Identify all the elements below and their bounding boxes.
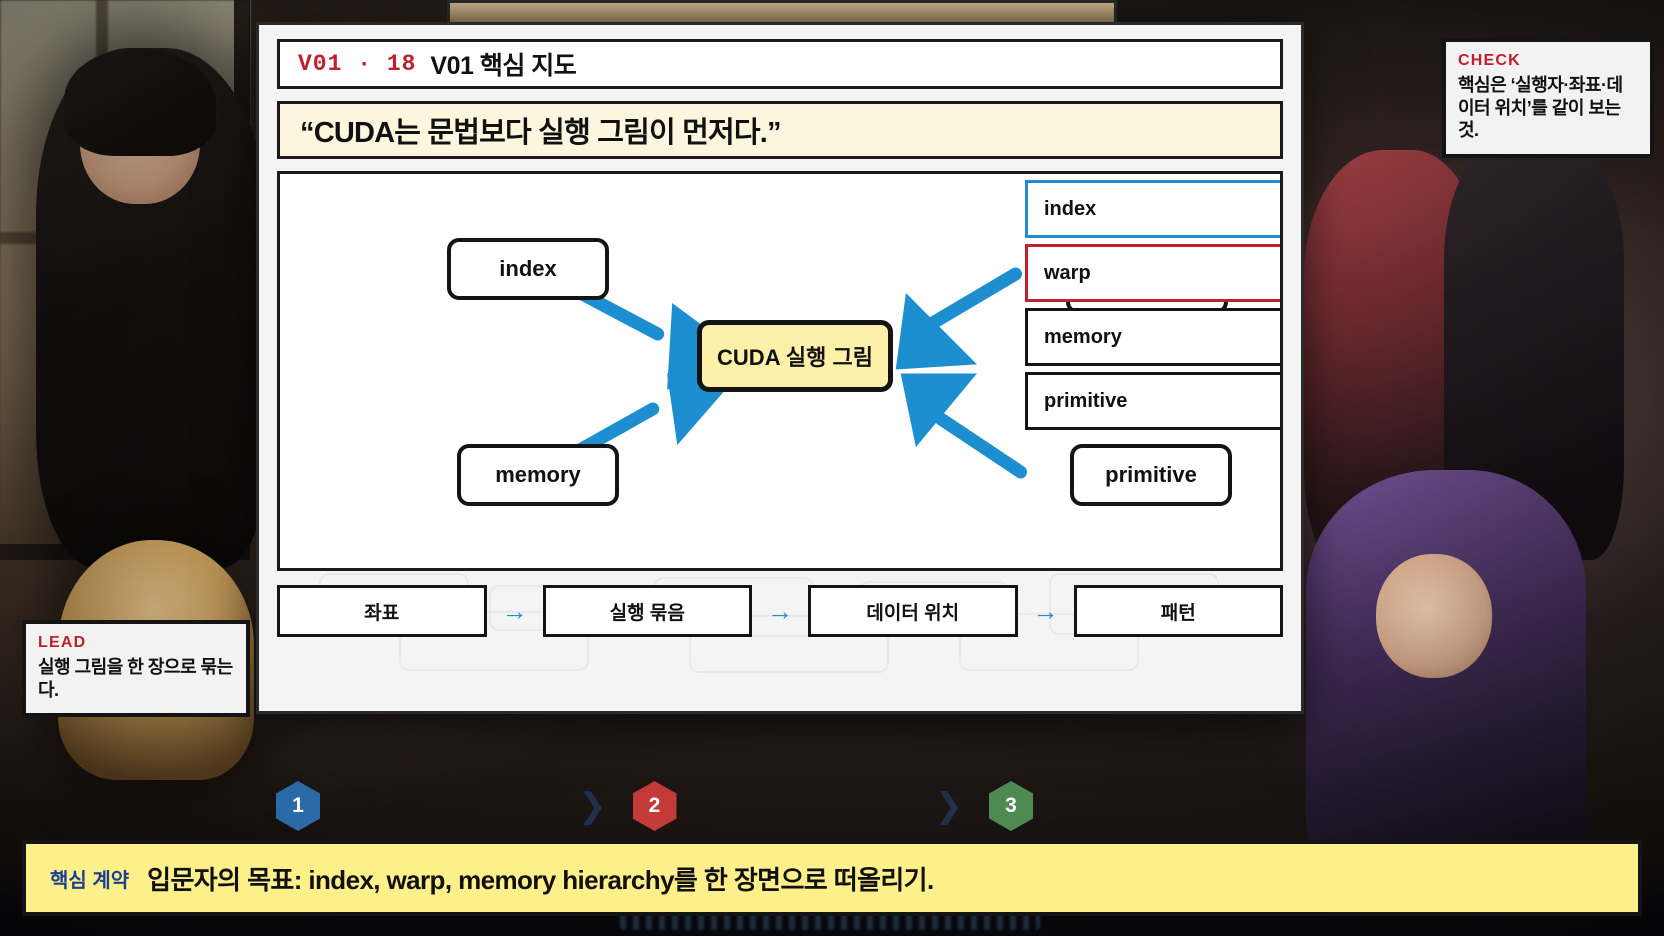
list-item-label: warp (1044, 262, 1091, 285)
pipeline-step-3[interactable]: 데이터 위치 (808, 585, 1018, 637)
node-primitive-right[interactable]: primitive (1070, 444, 1232, 506)
arrow-right-icon-2: → (752, 598, 808, 624)
node-center[interactable]: CUDA 실행 그림 (697, 320, 893, 392)
node-label: CUDA 실행 그림 (717, 340, 873, 372)
slide-panel: V01 · 18 V01 핵심 지도 “CUDA는 문법보다 실행 그림이 먼저… (256, 22, 1304, 714)
list-item-memory[interactable]: memory (1025, 308, 1283, 366)
step-hex-3[interactable]: 3 (989, 781, 1033, 831)
step-item[interactable]: 2 (633, 781, 677, 831)
pipeline-step-2[interactable]: 실행 묶음 (543, 585, 753, 637)
lead-card: LEAD 실행 그림을 한 장으로 묶는다. (22, 620, 250, 717)
page-title: V01 핵심 지도 (430, 46, 576, 82)
list-item-warp[interactable]: warp (1025, 244, 1283, 302)
node-label: index (499, 256, 556, 282)
check-card: CHECK 핵심은 ‘실행자·좌표·데이터 위치’를 같이 보는 것. (1442, 38, 1654, 158)
contract-kicker: 핵심 계약 (50, 864, 129, 893)
slide-code: V01 · 18 (298, 51, 416, 77)
projector-top-cap (447, 0, 1117, 24)
pipeline-step-1[interactable]: 좌표 (277, 585, 487, 637)
arrow-right-icon-1: → (487, 598, 543, 624)
step-item[interactable]: 3 (989, 781, 1033, 831)
node-memory-left[interactable]: memory (457, 444, 619, 506)
list-item-label: primitive (1044, 390, 1127, 413)
chevron-right-icon-1: ❯ (578, 786, 607, 826)
diagram-canvas: index memory CUDA 실행 그림 primitive index (277, 171, 1283, 571)
pipeline-step-4[interactable]: 패턴 (1074, 585, 1284, 637)
list-item-label: memory (1044, 326, 1122, 349)
step-item[interactable]: 1 (276, 781, 320, 831)
lead-card-kicker: LEAD (38, 634, 234, 652)
step-hex-1[interactable]: 1 (276, 781, 320, 831)
step-hex-2[interactable]: 2 (633, 781, 677, 831)
node-index-left[interactable]: index (447, 238, 609, 300)
check-card-kicker: CHECK (1458, 52, 1638, 70)
quote-banner: “CUDA는 문법보다 실행 그림이 먼저다.” (277, 101, 1283, 159)
pipeline-step-label: 데이터 위치 (866, 598, 959, 625)
contract-text: 입문자의 목표: index, warp, memory hierarchy를 … (147, 860, 933, 897)
list-item-label: index (1044, 198, 1096, 221)
chevron-right-icon-2: ❯ (935, 786, 964, 826)
quote-text: “CUDA는 문법보다 실행 그림이 먼저다.” (300, 109, 781, 151)
step-indicator-strip: 1 ❯ 2 ❯ 3 (276, 768, 1456, 844)
check-card-body: 핵심은 ‘실행자·좌표·데이터 위치’를 같이 보는 것. (1458, 74, 1638, 142)
pipeline-step-label: 패턴 (1161, 598, 1196, 625)
pipeline-step-label: 실행 묶음 (610, 598, 685, 625)
lead-card-body: 실행 그림을 한 장으로 묶는다. (38, 656, 234, 701)
list-item-primitive[interactable]: primitive (1025, 372, 1283, 430)
slide-stage: 1 ❯ 2 ❯ 3 V01 · 18 V01 핵심 지도 (0, 0, 1664, 936)
node-label: primitive (1105, 462, 1197, 488)
list-item-index[interactable]: index (1025, 180, 1283, 238)
node-label: memory (495, 462, 581, 488)
arrow-right-icon-3: → (1018, 598, 1074, 624)
pipeline-row: 좌표 → 실행 묶음 → 데이터 위치 → 패턴 (277, 585, 1283, 637)
contract-banner: 핵심 계약 입문자의 목표: index, warp, memory hiera… (22, 840, 1642, 916)
slide-header: V01 · 18 V01 핵심 지도 (277, 39, 1283, 89)
pipeline-step-label: 좌표 (364, 598, 399, 625)
